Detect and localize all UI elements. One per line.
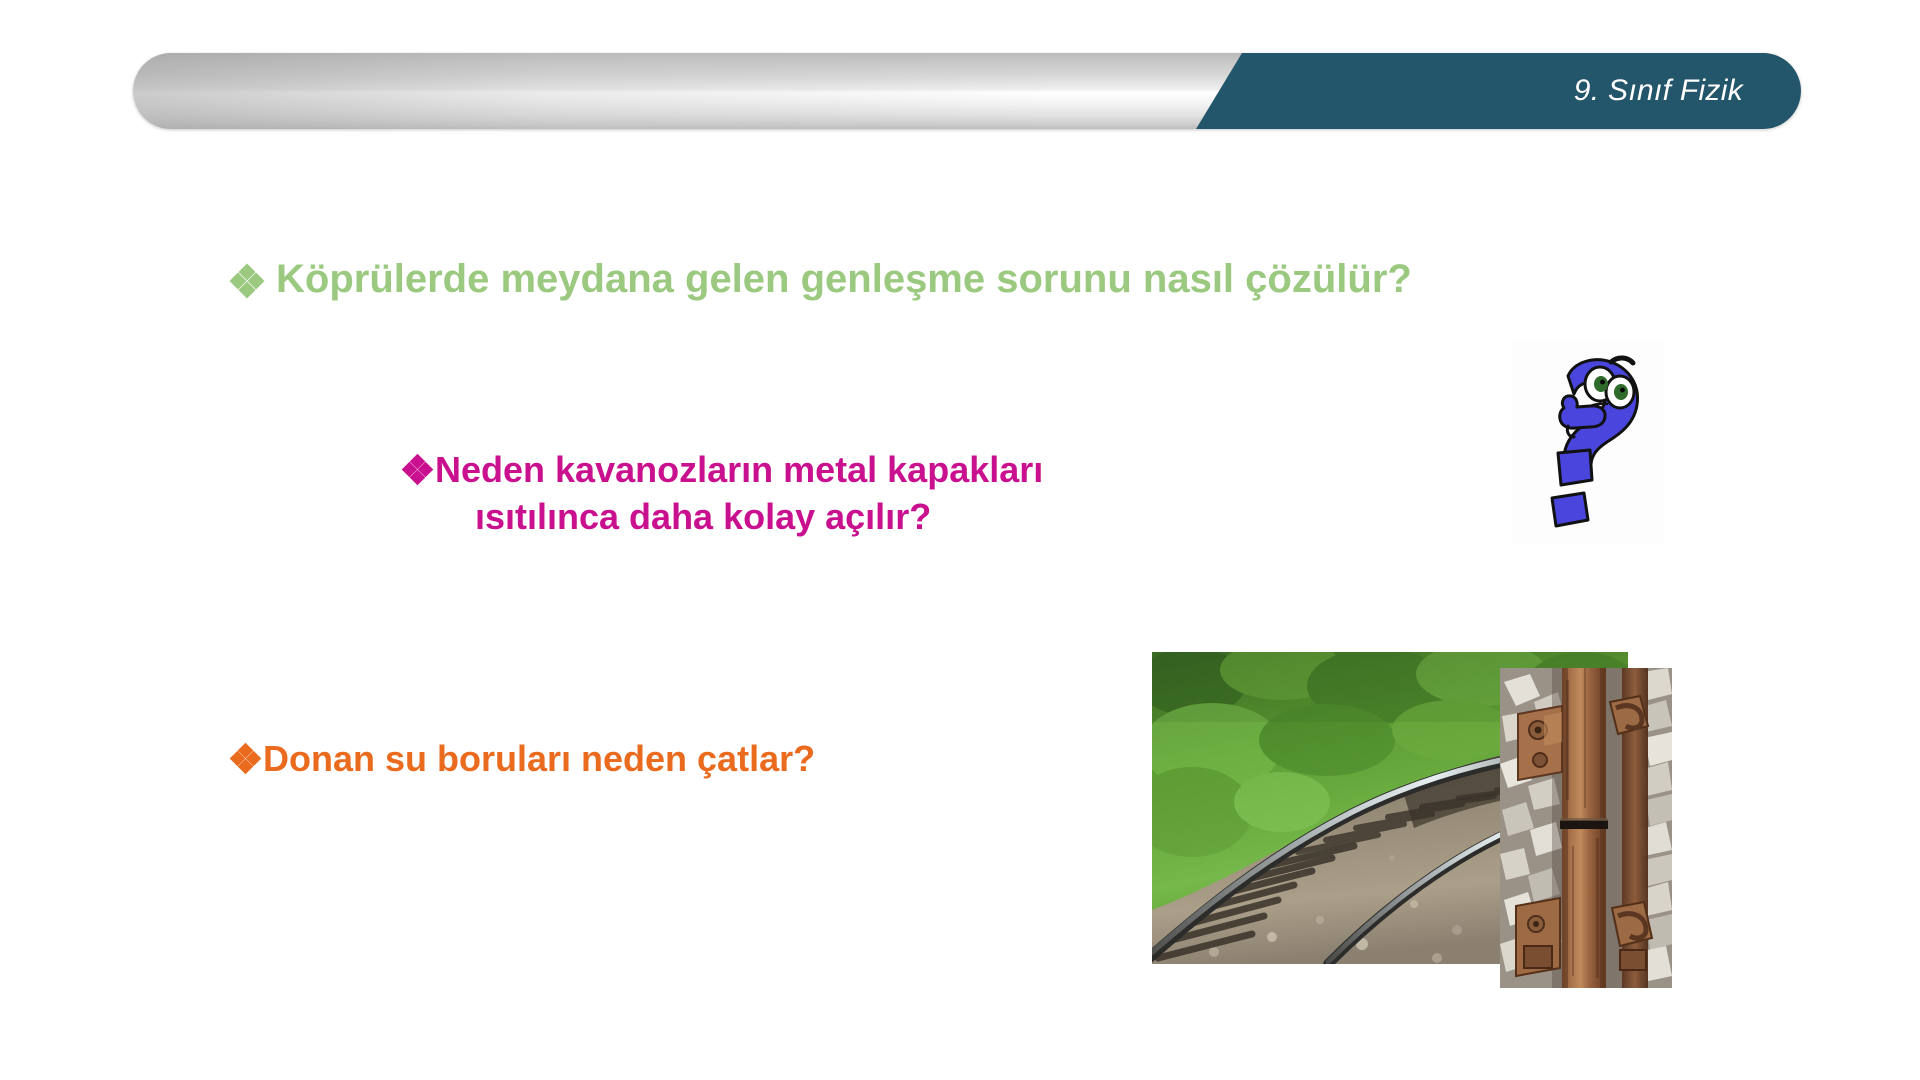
diamond-bullet-icon: [232, 266, 262, 296]
diamond-bullet-icon: [232, 745, 259, 772]
rail-expansion-joint-photo: [1500, 668, 1672, 988]
presentation-slide: 9. Sınıf Fizik Köprülerde meydana gelen …: [0, 0, 1920, 1080]
question-bridge-expansion-text: Köprülerde meydana gelen genleşme sorunu…: [276, 256, 1412, 303]
question-frozen-pipes-text: Donan su boruları neden çatlar?: [263, 737, 815, 780]
question-jar-lid-line2: ısıtılınca daha kolay açılır?: [435, 494, 1043, 541]
question-frozen-pipes: Donan su boruları neden çatlar?: [232, 737, 815, 780]
diamond-bullet-icon: [404, 456, 431, 483]
slide-course-title: 9. Sınıf Fizik: [1574, 53, 1743, 129]
question-mark-cartoon-icon: [1512, 340, 1664, 544]
question-bridge-expansion: Köprülerde meydana gelen genleşme sorunu…: [232, 256, 1412, 303]
banner-accent-clip: [133, 53, 1801, 129]
question-jar-lid-line1: Neden kavanozların metal kapakları: [435, 447, 1043, 494]
header-banner: 9. Sınıf Fizik: [133, 53, 1801, 129]
question-jar-lid: Neden kavanozların metal kapakları ısıtı…: [404, 447, 1043, 541]
